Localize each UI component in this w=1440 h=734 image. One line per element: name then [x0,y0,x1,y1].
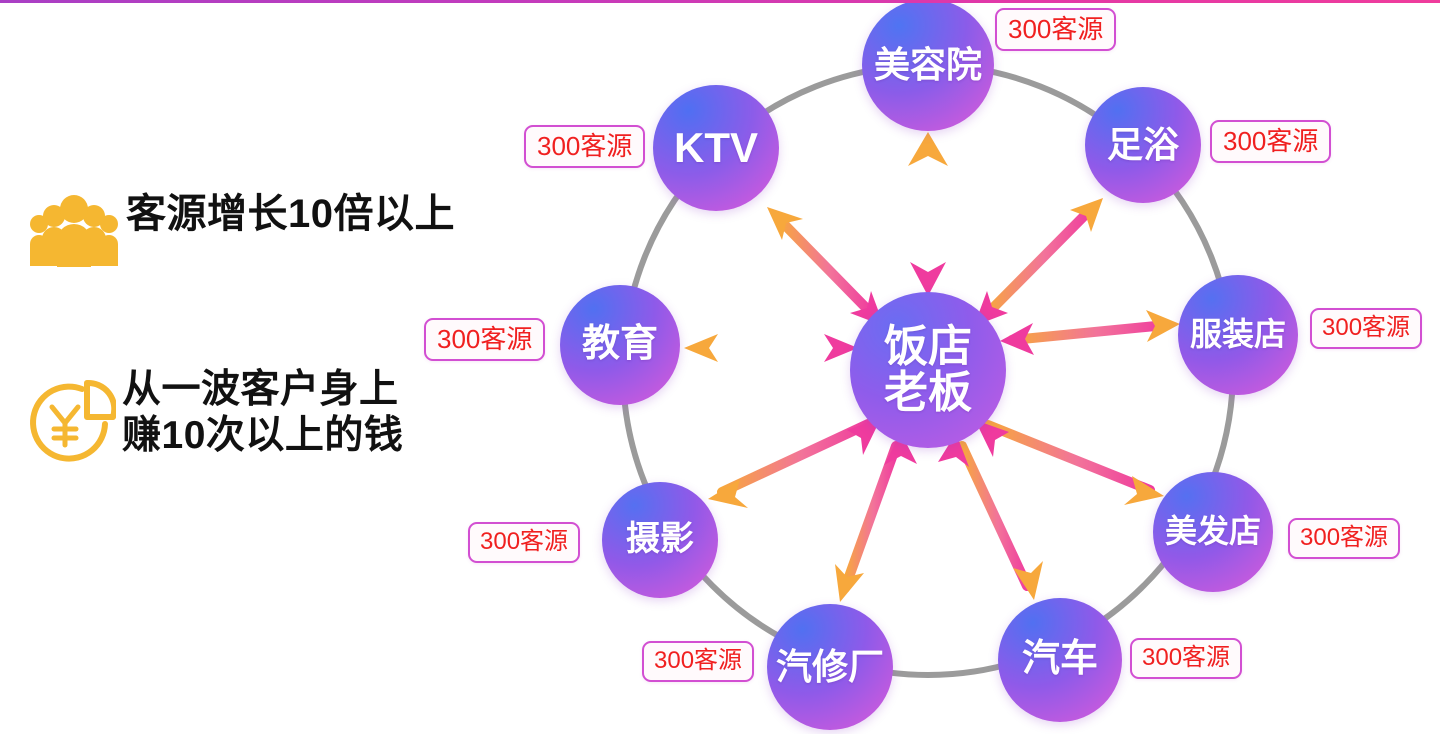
badge-foot-spa: 300客源 [1210,120,1331,163]
spoke-photography [708,418,881,508]
badge-hair-salon: 300客源 [1288,518,1400,559]
node-ktv[interactable]: KTV [653,85,779,211]
spoke-clothing [1000,310,1180,355]
badge-text: 300客源 [1223,126,1318,156]
node-auto-repair-shop[interactable]: 汽修厂 [767,604,893,730]
node-car[interactable]: 汽车 [998,598,1122,722]
node-label: 汽车 [1022,640,1098,680]
node-label: 摄影 [626,522,694,557]
badge-text: 300客源 [1008,14,1103,44]
node-hair-salon[interactable]: 美发店 [1153,472,1273,592]
badge-text: 300客源 [654,647,742,674]
badge-text: 300客源 [1322,314,1410,341]
node-photography[interactable]: 摄影 [602,482,718,598]
feature-label: 客源增长10倍以上 [126,190,455,238]
node-beauty-salon[interactable]: 美容院 [862,0,994,131]
spoke-auto-repair [835,433,917,602]
badge-auto-repair-shop: 300客源 [642,641,754,682]
node-education[interactable]: 教育 [560,285,680,405]
spoke-ktv [767,207,884,326]
node-foot-spa[interactable]: 足浴 [1085,87,1201,203]
badge-car: 300客源 [1130,638,1242,679]
hub-node-label: 饭店 老板 [884,324,972,416]
node-label: KTV [674,126,758,170]
node-label: 足浴 [1107,126,1179,163]
people-group-icon [22,190,126,268]
feature-label: 从一波客户身上 赚10次以上的钱 [122,365,403,459]
feature-item-repeat-revenue: 从一波客户身上 赚10次以上的钱 [18,365,403,465]
node-label: 教育 [582,325,658,365]
badge-beauty-salon: 300客源 [995,8,1116,51]
top-accent-rule [0,0,1440,3]
badge-text: 300客源 [1300,524,1388,551]
node-clothing-store[interactable]: 服装店 [1178,275,1298,395]
hub-node-restaurant-owner[interactable]: 饭店 老板 [850,292,1006,448]
spoke-beauty-salon [908,132,948,296]
pie-chart-yuan-icon [18,365,122,465]
node-label: 美发店 [1165,515,1261,548]
spoke-hair-salon [975,420,1164,505]
spoke-education [684,334,858,362]
badge-clothing-store: 300客源 [1310,308,1422,349]
feature-item-customer-growth: 客源增长10倍以上 [22,190,455,268]
node-label: 汽修厂 [776,648,884,685]
node-label: 美容院 [874,46,982,83]
spoke-foot-spa [974,198,1103,326]
left-feature-panel: 客源增长10倍以上 从一波客户身上 赚10次以上的钱 [0,150,560,550]
spoke-car [938,433,1043,600]
badge-text: 300客源 [1142,644,1230,671]
node-label: 服装店 [1190,318,1286,351]
